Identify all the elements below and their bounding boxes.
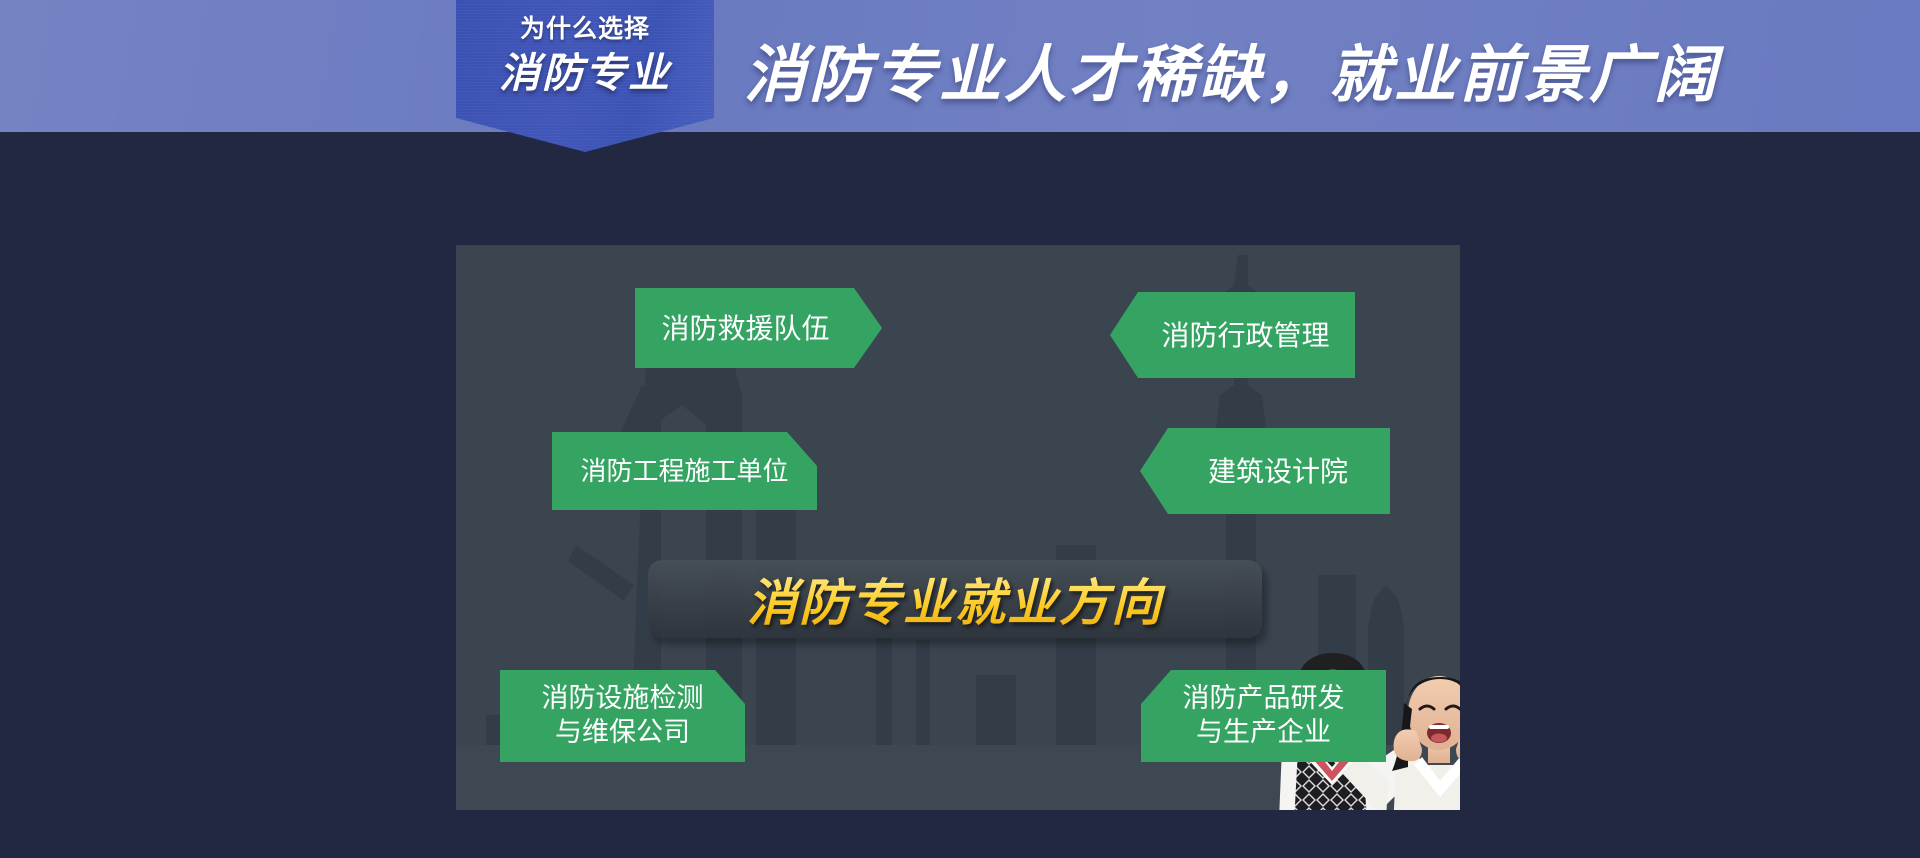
chip-fire-product-rd-manufacturing[interactable]: 消防产品研发 与生产企业: [1141, 670, 1386, 762]
page-title: 消防专业人才稀缺，就业前景广阔: [744, 24, 1719, 114]
chip-label: 消防产品研发 与生产企业: [1183, 682, 1345, 750]
chip-label: 消防救援队伍: [661, 311, 829, 346]
chip-fire-facility-inspection-maintenance[interactable]: 消防设施检测 与维保公司: [500, 670, 745, 762]
career-direction-title: 消防专业就业方向: [648, 560, 1262, 638]
chip-architectural-design-institute[interactable]: 建筑设计院: [1140, 428, 1390, 514]
chip-label: 消防设施检测 与维保公司: [542, 682, 704, 750]
badge-subtitle: 为什么选择: [520, 14, 650, 44]
chip-label: 消防工程施工单位: [580, 455, 788, 488]
chip-label: 建筑设计院: [1208, 454, 1348, 489]
badge-title: 消防专业: [499, 48, 671, 99]
chip-fire-engineering-contractor[interactable]: 消防工程施工单位: [552, 432, 817, 510]
chip-fire-administration[interactable]: 消防行政管理: [1110, 292, 1355, 378]
chip-fire-rescue-team[interactable]: 消防救援队伍: [635, 288, 882, 368]
chip-label: 消防行政管理: [1161, 318, 1329, 353]
